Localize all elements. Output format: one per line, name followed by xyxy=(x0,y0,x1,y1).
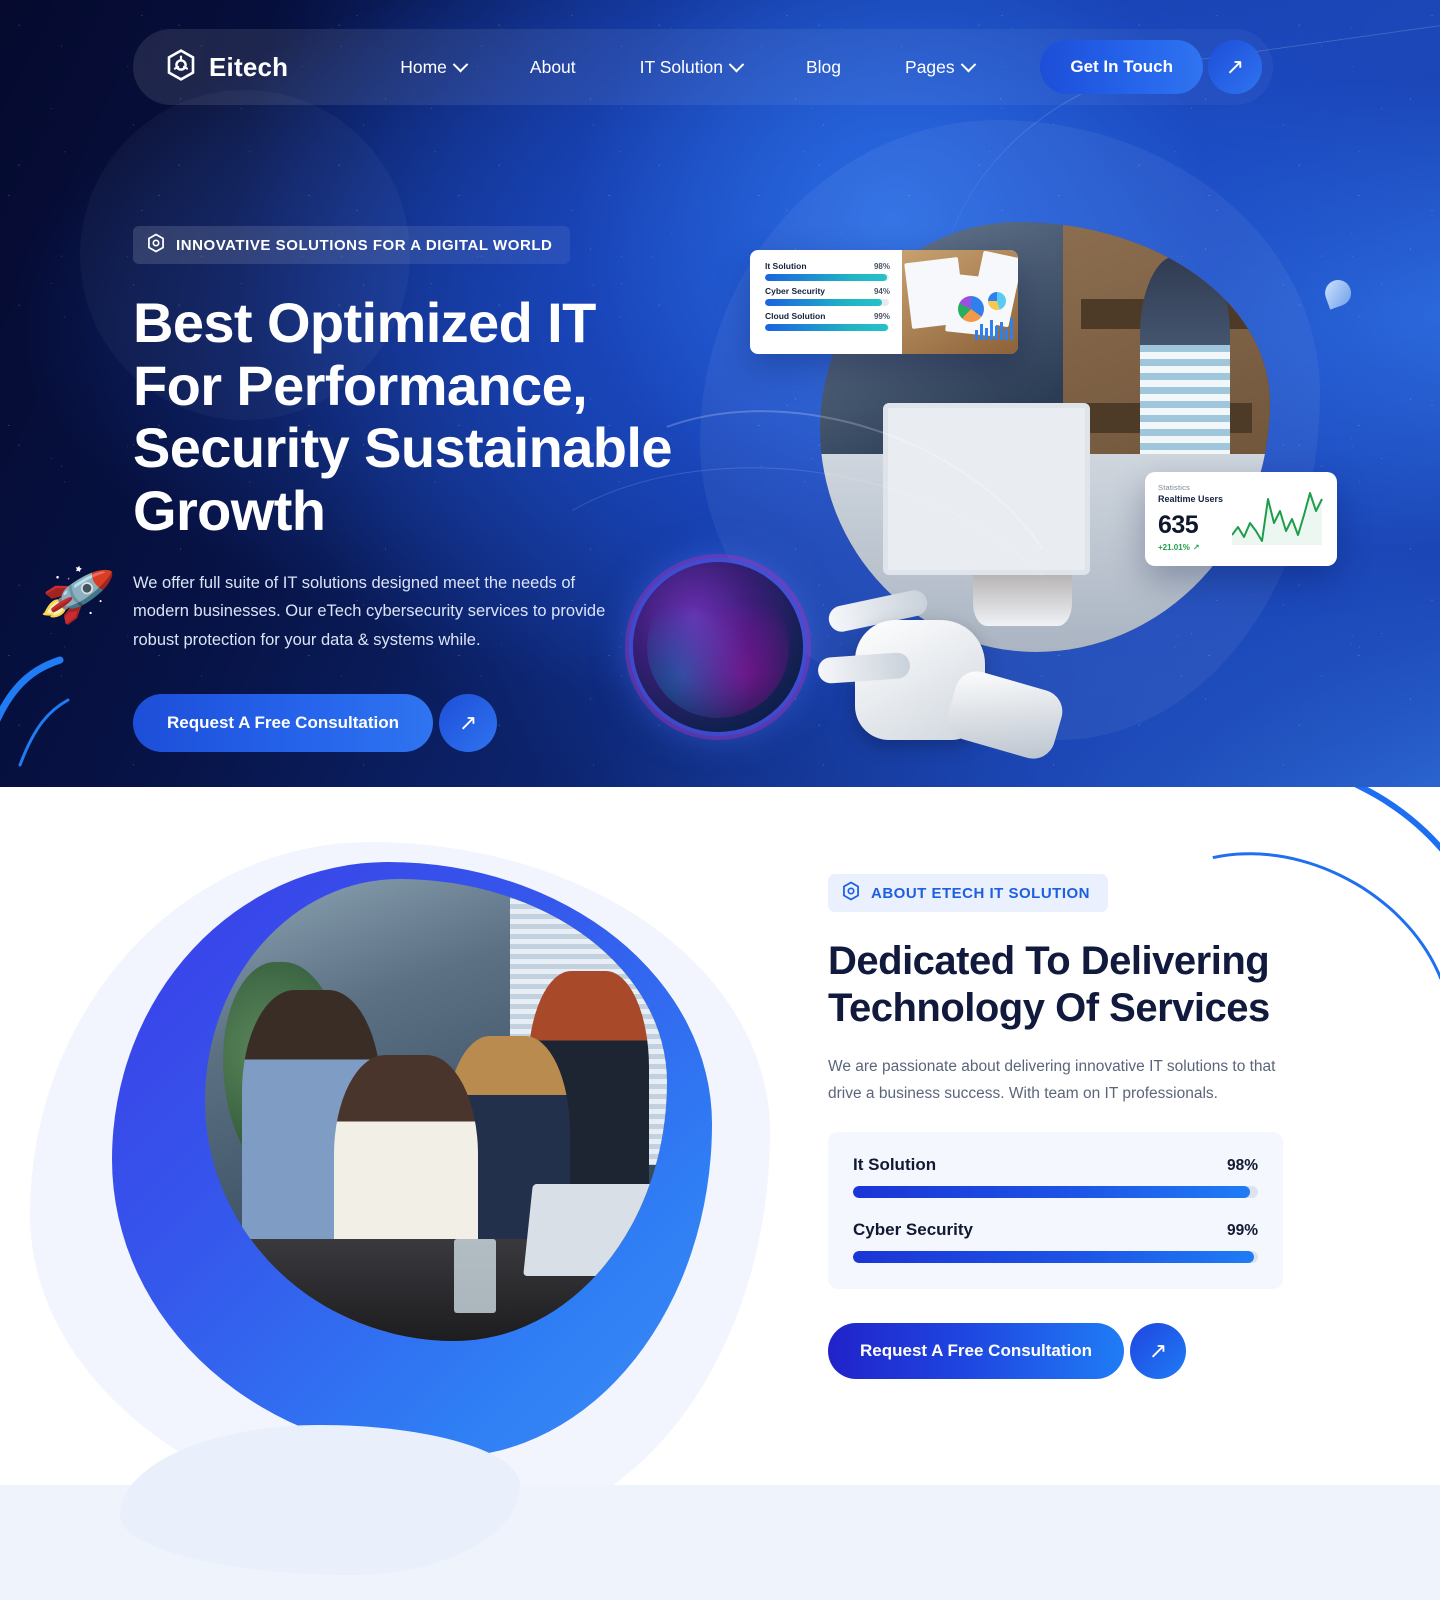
progress-value: 99% xyxy=(1227,1222,1258,1240)
trend-up-icon: ↗ xyxy=(1193,543,1200,552)
nav-links: Home About IT Solution Blog Pages xyxy=(368,57,1005,78)
about-progress-card: It Solution 98% Cyber Security 99% xyxy=(828,1132,1283,1289)
globe-decoration xyxy=(633,562,803,732)
about-paragraph: We are passionate about delivering innov… xyxy=(828,1054,1276,1107)
progress-track xyxy=(853,1186,1258,1198)
hero-badge-label: INNOVATIVE SOLUTIONS FOR A DIGITAL WORLD xyxy=(176,237,552,254)
about-badge-label: ABOUT ETECH IT SOLUTION xyxy=(871,885,1090,902)
about-cta-group: Request A Free Consultation ↗ xyxy=(828,1323,1298,1379)
about-section: ABOUT ETECH IT SOLUTION Dedicated To Del… xyxy=(0,787,1440,1485)
stats-title: Realtime Users xyxy=(1158,494,1223,504)
skill-value: 94% xyxy=(874,287,890,296)
skill-progress-track xyxy=(765,274,889,281)
skills-card-photo xyxy=(902,250,1018,354)
skill-name: Cloud Solution xyxy=(765,311,825,321)
about-team-photo xyxy=(205,879,667,1341)
chevron-down-icon xyxy=(960,56,976,72)
skill-value: 99% xyxy=(874,312,890,321)
progress-label: Cyber Security xyxy=(853,1220,973,1240)
next-section-strip xyxy=(0,1485,1440,1600)
hero-badge: INNOVATIVE SOLUTIONS FOR A DIGITAL WORLD xyxy=(133,226,570,264)
laptop-icon xyxy=(524,1184,654,1276)
hexagon-logo-icon xyxy=(841,881,861,905)
brand-name: Eitech xyxy=(209,52,288,83)
arrow-up-right-icon[interactable]: ↗ xyxy=(439,694,497,752)
chevron-down-icon xyxy=(729,56,745,72)
nav-item-it-solution[interactable]: IT Solution xyxy=(608,57,774,78)
nav-item-pages[interactable]: Pages xyxy=(873,57,1006,78)
nav-item-label: About xyxy=(530,57,576,78)
hexagon-logo-icon xyxy=(146,233,166,257)
skill-progress-track xyxy=(765,324,889,331)
skill-name: Cyber Security xyxy=(765,286,825,296)
skill-progress-track xyxy=(765,299,889,306)
stats-label: Statistics xyxy=(1158,483,1223,492)
nav-item-label: Home xyxy=(400,57,447,78)
hexagon-logo-icon xyxy=(164,48,198,87)
nav-item-home[interactable]: Home xyxy=(368,57,498,78)
get-in-touch-button[interactable]: Get In Touch xyxy=(1040,40,1203,94)
nav-item-label: Blog xyxy=(806,57,841,78)
rocket-icon: 🚀 xyxy=(36,555,118,634)
skill-row: It Solution 98% xyxy=(765,261,902,281)
skill-name: It Solution xyxy=(765,261,807,271)
robot-hand-decoration xyxy=(800,560,1030,770)
progress-row: Cyber Security 99% xyxy=(853,1220,1258,1263)
progress-track xyxy=(853,1251,1258,1263)
stats-text-block: Statistics Realtime Users 635 +21.01% ↗ xyxy=(1158,483,1223,555)
nav-item-label: IT Solution xyxy=(640,57,723,78)
brand-logo[interactable]: Eitech xyxy=(164,48,288,87)
navbar-cta-group: Get In Touch ↗ xyxy=(1040,40,1262,94)
pie-chart-icon xyxy=(988,292,1006,310)
skill-value: 98% xyxy=(874,262,890,271)
request-consultation-button[interactable]: Request A Free Consultation xyxy=(828,1323,1124,1379)
skills-list: It Solution 98% Cyber Security 94% xyxy=(750,250,902,354)
progress-row: It Solution 98% xyxy=(853,1155,1258,1198)
landing-page: Eitech Home About IT Solution Blog xyxy=(0,0,1440,1600)
skill-row: Cyber Security 94% xyxy=(765,286,902,306)
about-heading: Dedicated To Delivering Technology Of Se… xyxy=(828,938,1298,1032)
water-glass xyxy=(454,1239,496,1313)
hero-skills-card: It Solution 98% Cyber Security 94% xyxy=(750,250,1018,354)
rocket-decoration: 🚀 xyxy=(0,540,200,770)
main-navbar: Eitech Home About IT Solution Blog xyxy=(133,29,1273,105)
hero-section: Eitech Home About IT Solution Blog xyxy=(0,0,1440,787)
stats-number: 635 xyxy=(1158,511,1223,540)
about-content: ABOUT ETECH IT SOLUTION Dedicated To Del… xyxy=(828,874,1298,1379)
skill-row: Cloud Solution 99% xyxy=(765,311,902,331)
nav-item-label: Pages xyxy=(905,57,955,78)
progress-label: It Solution xyxy=(853,1155,936,1175)
hero-stats-card: Statistics Realtime Users 635 +21.01% ↗ xyxy=(1145,472,1337,566)
nav-item-about[interactable]: About xyxy=(498,57,608,78)
progress-value: 98% xyxy=(1227,1157,1258,1175)
chevron-down-icon xyxy=(453,56,469,72)
stats-delta: +21.01% ↗ xyxy=(1158,543,1223,552)
arrow-up-right-icon[interactable]: ↗ xyxy=(1130,1323,1186,1379)
person-standing xyxy=(1140,256,1230,454)
arrow-up-right-icon[interactable]: ↗ xyxy=(1208,40,1262,94)
realtime-users-sparkline xyxy=(1232,489,1324,550)
about-badge: ABOUT ETECH IT SOLUTION xyxy=(828,874,1108,912)
stats-delta-value: +21.01% xyxy=(1158,543,1190,552)
nav-item-blog[interactable]: Blog xyxy=(774,57,873,78)
bar-chart-icon xyxy=(975,318,1013,340)
